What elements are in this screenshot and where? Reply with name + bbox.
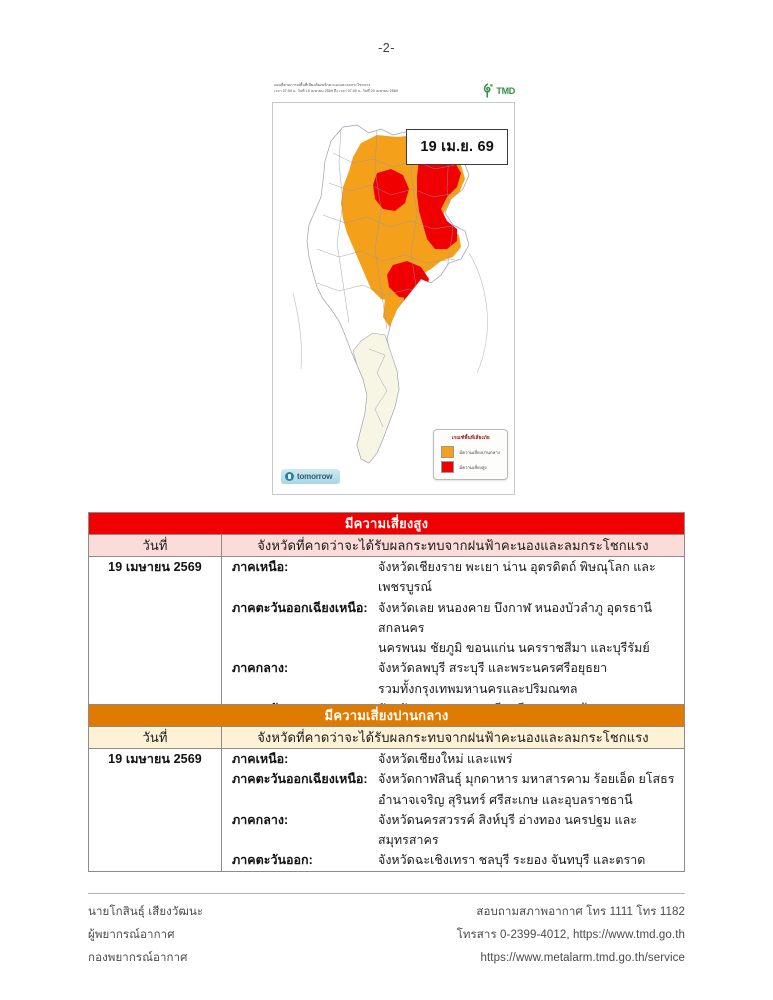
- high-risk-table: มีความเสี่ยงสูง วันที่ จังหวัดที่คาดว่าจ…: [88, 512, 685, 720]
- table-row: 19 เมษายน 2569 ภาคเหนือ: จังหวัดเชียงราย…: [89, 557, 685, 720]
- legend-swatch-high-icon: [441, 461, 454, 473]
- column-header-provinces: จังหวัดที่คาดว่าจะได้รับผลกระทบจากฝนฟ้าค…: [222, 535, 685, 557]
- column-header-provinces: จังหวัดที่คาดว่าจะได้รับผลกระทบจากฝนฟ้าค…: [222, 727, 685, 749]
- tomorrow-logo-icon: [285, 472, 294, 481]
- map-date-badge: 19 เม.ย. 69: [406, 129, 508, 165]
- cell-regions: ภาคเหนือ: จังหวัดเชียงราย พะเยา น่าน อุต…: [222, 557, 685, 720]
- region-grid: ภาคเหนือ: จังหวัดเชียงใหม่ และแพร่ ภาคตะ…: [222, 749, 684, 871]
- medium-risk-zone-east: [421, 311, 463, 347]
- footer-phone-line: สอบถามสภาพอากาศ โทร 1111 โทร 1182: [457, 901, 685, 924]
- andaman-coastline: [293, 293, 302, 369]
- forecast-map-figure: แผนที่คาดการณ์พื้นที่เสี่ยงภัยฝนฟ้าคะนอง…: [272, 83, 515, 495]
- cell-date: 19 เมษายน 2569: [89, 557, 222, 720]
- region-provinces-central: จังหวัดนครสวรรค์ สิงห์บุรี อ่างทอง นครปฐ…: [378, 810, 684, 851]
- table-band-row: มีความเสี่ยงปานกลาง: [89, 705, 685, 727]
- legend-label-medium: มีความเสี่ยงปานกลาง: [459, 449, 500, 456]
- cell-regions: ภาคเหนือ: จังหวัดเชียงใหม่ และแพร่ ภาคตะ…: [222, 749, 685, 872]
- region-provinces-northeast-line1: จังหวัดเลย หนองคาย บึงกาฬ หนองบัวลำภู อุ…: [378, 601, 652, 635]
- medium-risk-zone-central: [383, 293, 433, 335]
- southern-region-inactive: [353, 333, 399, 463]
- table-header-row: วันที่ จังหวัดที่คาดว่าจะได้รับผลกระทบจา…: [89, 535, 685, 557]
- region-label-northeast: ภาคตะวันออกเฉียงเหนือ:: [232, 769, 372, 810]
- cell-date: 19 เมษายน 2569: [89, 749, 222, 872]
- region-provinces-east: จังหวัดฉะเชิงเทรา ชลบุรี ระยอง จันทบุรี …: [378, 850, 684, 870]
- legend-swatch-medium-icon: [441, 446, 454, 458]
- region-provinces-north-line1: จังหวัดเชียงราย พะเยา น่าน อุตรดิตถ์ พิษ…: [378, 560, 656, 594]
- footer-contact-block: สอบถามสภาพอากาศ โทร 1111 โทร 1182 โทรสาร…: [457, 901, 685, 970]
- medium-risk-band-title: มีความเสี่ยงปานกลาง: [89, 705, 685, 727]
- gulf-coastline: [469, 253, 488, 373]
- region-provinces-north: จังหวัดเชียงราย พะเยา น่าน อุตรดิตถ์ พิษ…: [378, 557, 684, 598]
- region-label-north: ภาคเหนือ:: [232, 749, 372, 769]
- region-provinces-central-line2: รวมทั้งกรุงเทพมหานครและปริมณฑล: [378, 679, 684, 699]
- region-provinces-north: จังหวัดเชียงใหม่ และแพร่: [378, 749, 684, 769]
- legend-item-high: มีความเสี่ยงสูง: [441, 461, 500, 473]
- region-label-central: ภาคกลาง:: [232, 658, 372, 699]
- region-label-east: ภาคตะวันออก:: [232, 850, 372, 870]
- footer-divider: [88, 893, 685, 894]
- region-label-central: ภาคกลาง:: [232, 810, 372, 851]
- map-caption: แผนที่คาดการณ์พื้นที่เสี่ยงภัยฝนฟ้าคะนอง…: [274, 83, 479, 94]
- table-header-row: วันที่ จังหวัดที่คาดว่าจะได้รับผลกระทบจา…: [89, 727, 685, 749]
- footer-officer-role: ผู้พยากรณ์อากาศ: [88, 924, 203, 947]
- region-label-north: ภาคเหนือ:: [232, 557, 372, 598]
- region-provinces-north-line1: จังหวัดเชียงใหม่ และแพร่: [378, 752, 513, 766]
- region-provinces-central: จังหวัดลพบุรี สระบุรี และพระนครศรีอยุธยา…: [378, 658, 684, 699]
- footer-signature-block: นายโกสินธุ์ เสียงวัฒนะ ผู้พยากรณ์อากาศ ก…: [88, 901, 203, 970]
- region-provinces-northeast-line2: นครพนม ชัยภูมิ ขอนแก่น นครราชสีมา และบุร…: [378, 638, 684, 658]
- region-provinces-northeast-line2: อำนาจเจริญ สุรินทร์ ศรีสะเกษ และอุบลราชธ…: [378, 790, 684, 810]
- footer-officer-division: กองพยากรณ์อากาศ: [88, 947, 203, 970]
- tomorrow-attribution-badge: tomorrow: [281, 469, 340, 484]
- legend-item-medium: มีความเสี่ยงปานกลาง: [441, 446, 500, 458]
- tomorrow-label: tomorrow: [297, 472, 332, 481]
- page-footer: นายโกสินธุ์ เสียงวัฒนะ ผู้พยากรณ์อากาศ ก…: [88, 901, 685, 970]
- map-canvas[interactable]: 19 เม.ย. 69 เกณฑ์พื้นที่เสี่ยงภัย มีความ…: [272, 102, 515, 495]
- footer-officer-name: นายโกสินธุ์ เสียงวัฒนะ: [88, 901, 203, 924]
- region-provinces-central-line1: จังหวัดนครสวรรค์ สิงห์บุรี อ่างทอง นครปฐ…: [378, 813, 637, 847]
- high-risk-zone-central: [403, 289, 439, 319]
- table-row: 19 เมษายน 2569 ภาคเหนือ: จังหวัดเชียงใหม…: [89, 749, 685, 872]
- legend-title: เกณฑ์พื้นที่เสี่ยงภัย: [441, 435, 500, 442]
- column-header-date: วันที่: [89, 535, 222, 557]
- table-band-row: มีความเสี่ยงสูง: [89, 513, 685, 535]
- footer-service-url[interactable]: https://www.metalarm.tmd.go.th/service: [457, 947, 685, 970]
- region-provinces-northeast: จังหวัดเลย หนองคาย บึงกาฬ หนองบัวลำภู อุ…: [378, 598, 684, 659]
- map-legend: เกณฑ์พื้นที่เสี่ยงภัย มีความเสี่ยงปานกลา…: [433, 429, 508, 480]
- legend-label-high: มีความเสี่ยงสูง: [459, 464, 486, 471]
- region-grid: ภาคเหนือ: จังหวัดเชียงราย พะเยา น่าน อุต…: [222, 557, 684, 719]
- footer-fax-website-line[interactable]: โทรสาร 0-2399-4012, https://www.tmd.go.t…: [457, 924, 685, 947]
- medium-risk-table: มีความเสี่ยงปานกลาง วันที่ จังหวัดที่คาด…: [88, 704, 685, 872]
- column-header-date: วันที่: [89, 727, 222, 749]
- region-label-northeast: ภาคตะวันออกเฉียงเหนือ:: [232, 598, 372, 659]
- region-provinces-northeast-line1: จังหวัดกาฬสินธุ์ มุกดาหาร มหาสารคาม ร้อย…: [378, 772, 674, 786]
- region-provinces-central-line1: จังหวัดลพบุรี สระบุรี และพระนครศรีอยุธยา: [378, 661, 607, 675]
- region-provinces-east-line1: จังหวัดฉะเชิงเทรา ชลบุรี ระยอง จันทบุรี …: [378, 853, 645, 867]
- tmd-logo: TMD: [481, 83, 515, 98]
- tmd-logo-text: TMD: [496, 86, 515, 96]
- region-provinces-northeast: จังหวัดกาฬสินธุ์ มุกดาหาร มหาสารคาม ร้อย…: [378, 769, 684, 810]
- tmd-emblem-icon: [481, 83, 494, 98]
- page-number: -2-: [0, 41, 773, 55]
- high-risk-band-title: มีความเสี่ยงสูง: [89, 513, 685, 535]
